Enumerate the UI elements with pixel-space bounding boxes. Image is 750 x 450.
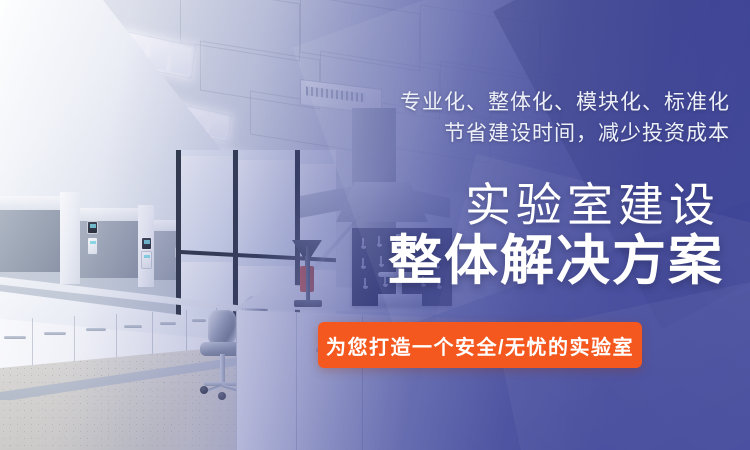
banner-copy-block: 专业化、整体化、模块化、标准化 节省建设时间，减少投资成本 实验室建设 整体解决… [318, 0, 738, 450]
headline-line-1: 实验室建设 [465, 182, 720, 228]
headline-line-2: 整体解决方案 [388, 234, 724, 288]
hero-banner: 专业化、整体化、模块化、标准化 节省建设时间，减少投资成本 实验室建设 整体解决… [0, 0, 750, 450]
cta-button-label: 为您打造一个安全/无忧的实验室 [326, 331, 634, 360]
subtitle-line-1: 专业化、整体化、模块化、标准化 [400, 88, 730, 118]
cta-button[interactable]: 为您打造一个安全/无忧的实验室 [318, 322, 642, 368]
subtitle-line-2: 节省建设时间，减少投资成本 [444, 119, 730, 149]
